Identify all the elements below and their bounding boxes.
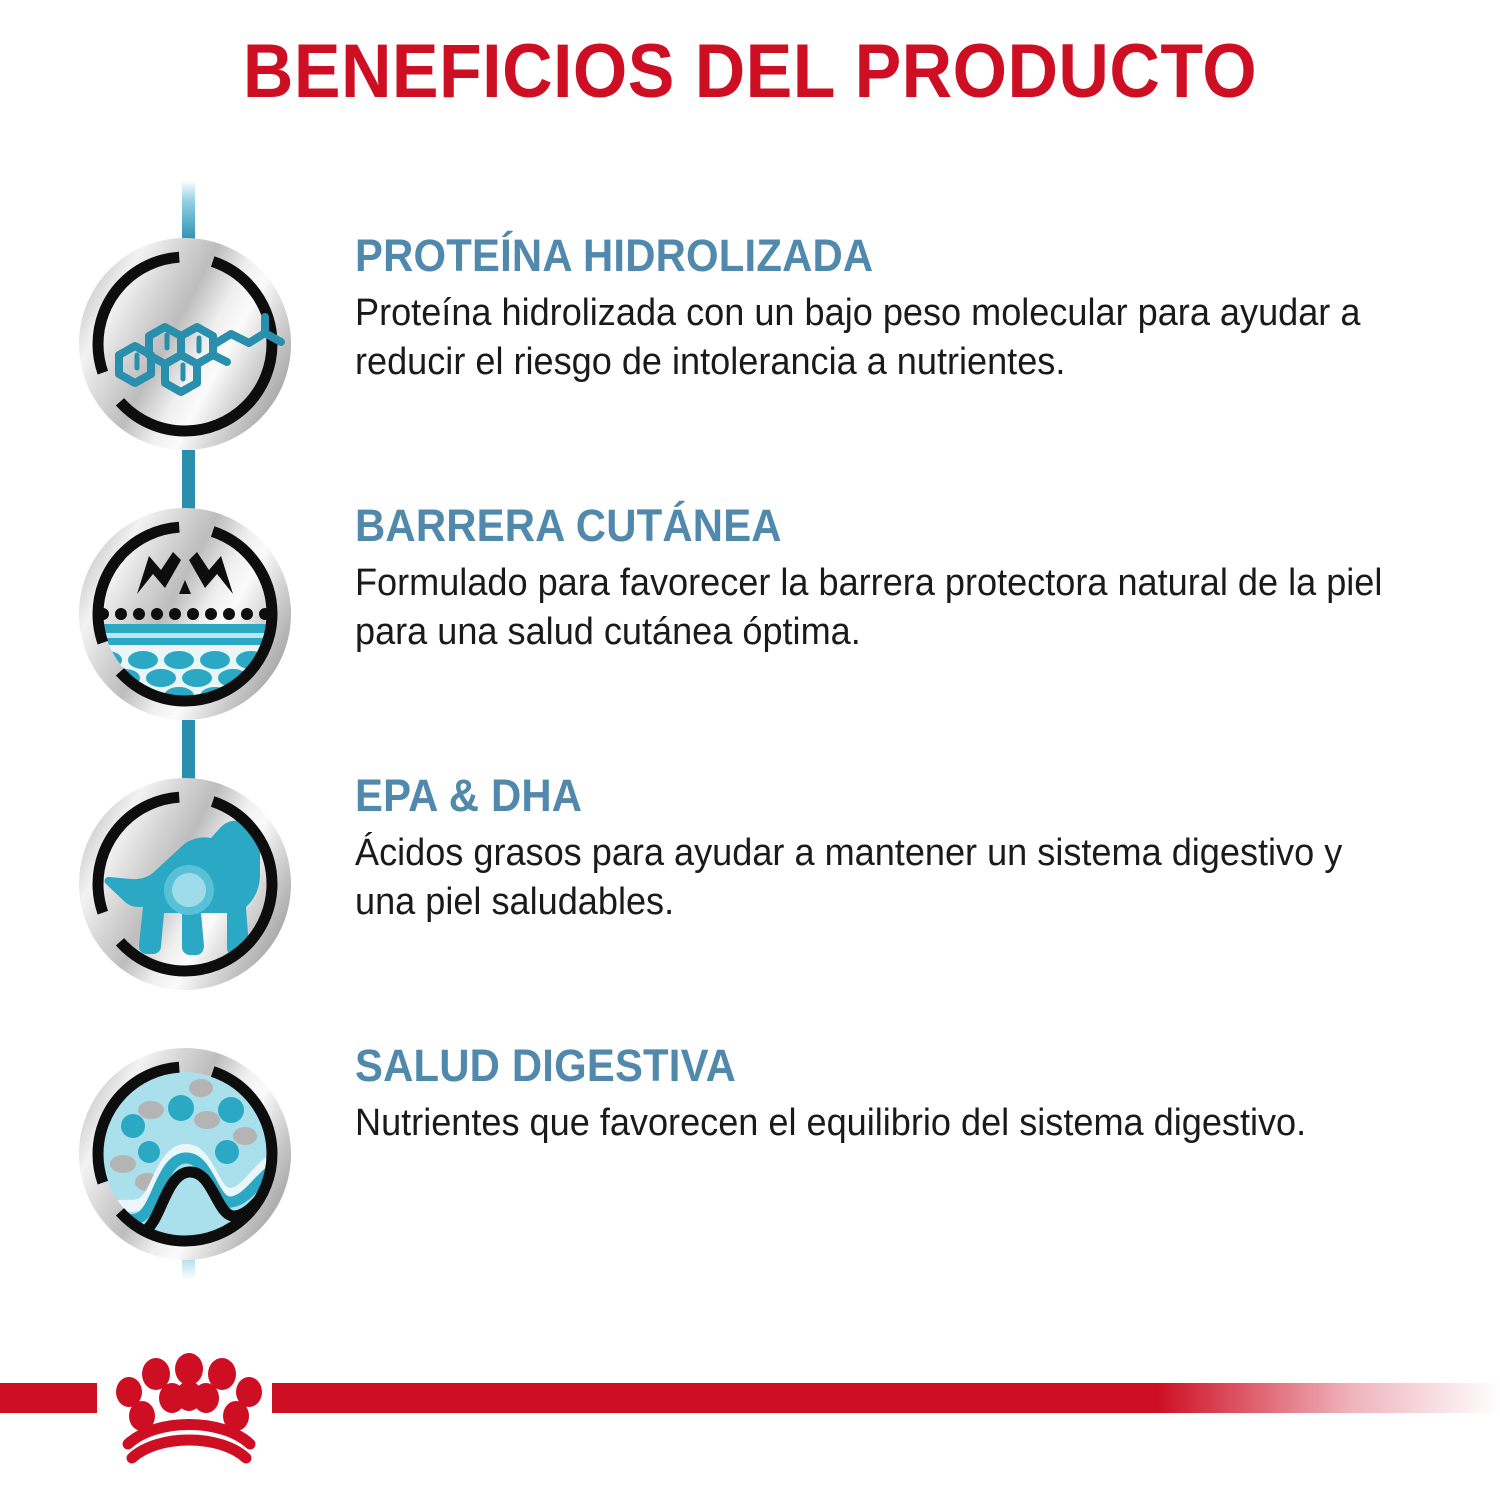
benefit-text-digestive-health: SALUD DIGESTIVA Nutrientes que favorecen…: [355, 1042, 1465, 1148]
benefit-text-hydrolyzed-protein: PROTEÍNA HIDROLIZADA Proteína hidrolizad…: [355, 232, 1465, 387]
royal-canin-crown-logo: [104, 1350, 274, 1470]
page-title: BENEFICIOS DEL PRODUCTO: [60, 34, 1440, 110]
timeline-connector-top: [182, 180, 195, 242]
footer-bar-right: [272, 1383, 1500, 1413]
benefit-item-hydrolyzed-protein: PROTEÍNA HIDROLIZADA Proteína hidrolizad…: [0, 180, 1500, 450]
digestive-health-icon: [79, 1048, 291, 1260]
benefit-body: Ácidos grasos para ayudar a mantener un …: [355, 829, 1410, 926]
benefit-item-epa-dha: EPA & DHA Ácidos grasos para ayudar a ma…: [0, 720, 1500, 990]
benefit-body: Proteína hidrolizada con un bajo peso mo…: [355, 289, 1410, 386]
benefits-list: PROTEÍNA HIDROLIZADA Proteína hidrolizad…: [0, 180, 1500, 1260]
dog-icon: [79, 778, 291, 990]
benefit-heading: SALUD DIGESTIVA: [355, 1042, 1387, 1089]
benefit-text-epa-dha: EPA & DHA Ácidos grasos para ayudar a ma…: [355, 772, 1465, 927]
footer-bar-left: [0, 1383, 97, 1413]
benefit-body: Formulado para favorecer la barrera prot…: [355, 559, 1410, 656]
timeline-connector: [182, 450, 195, 512]
molecule-icon: [79, 238, 291, 450]
timeline-connector: [182, 720, 195, 782]
benefit-text-skin-barrier: BARRERA CUTÁNEA Formulado para favorecer…: [355, 502, 1465, 657]
benefit-item-skin-barrier: BARRERA CUTÁNEA Formulado para favorecer…: [0, 450, 1500, 720]
benefit-heading: PROTEÍNA HIDROLIZADA: [355, 232, 1387, 279]
footer: [0, 1350, 1500, 1500]
benefit-heading: EPA & DHA: [355, 772, 1387, 819]
benefit-heading: BARRERA CUTÁNEA: [355, 502, 1387, 549]
benefit-body: Nutrientes que favorecen el equilibrio d…: [355, 1099, 1410, 1148]
skin-barrier-icon: [79, 508, 291, 720]
benefit-item-digestive-health: SALUD DIGESTIVA Nutrientes que favorecen…: [0, 990, 1500, 1260]
